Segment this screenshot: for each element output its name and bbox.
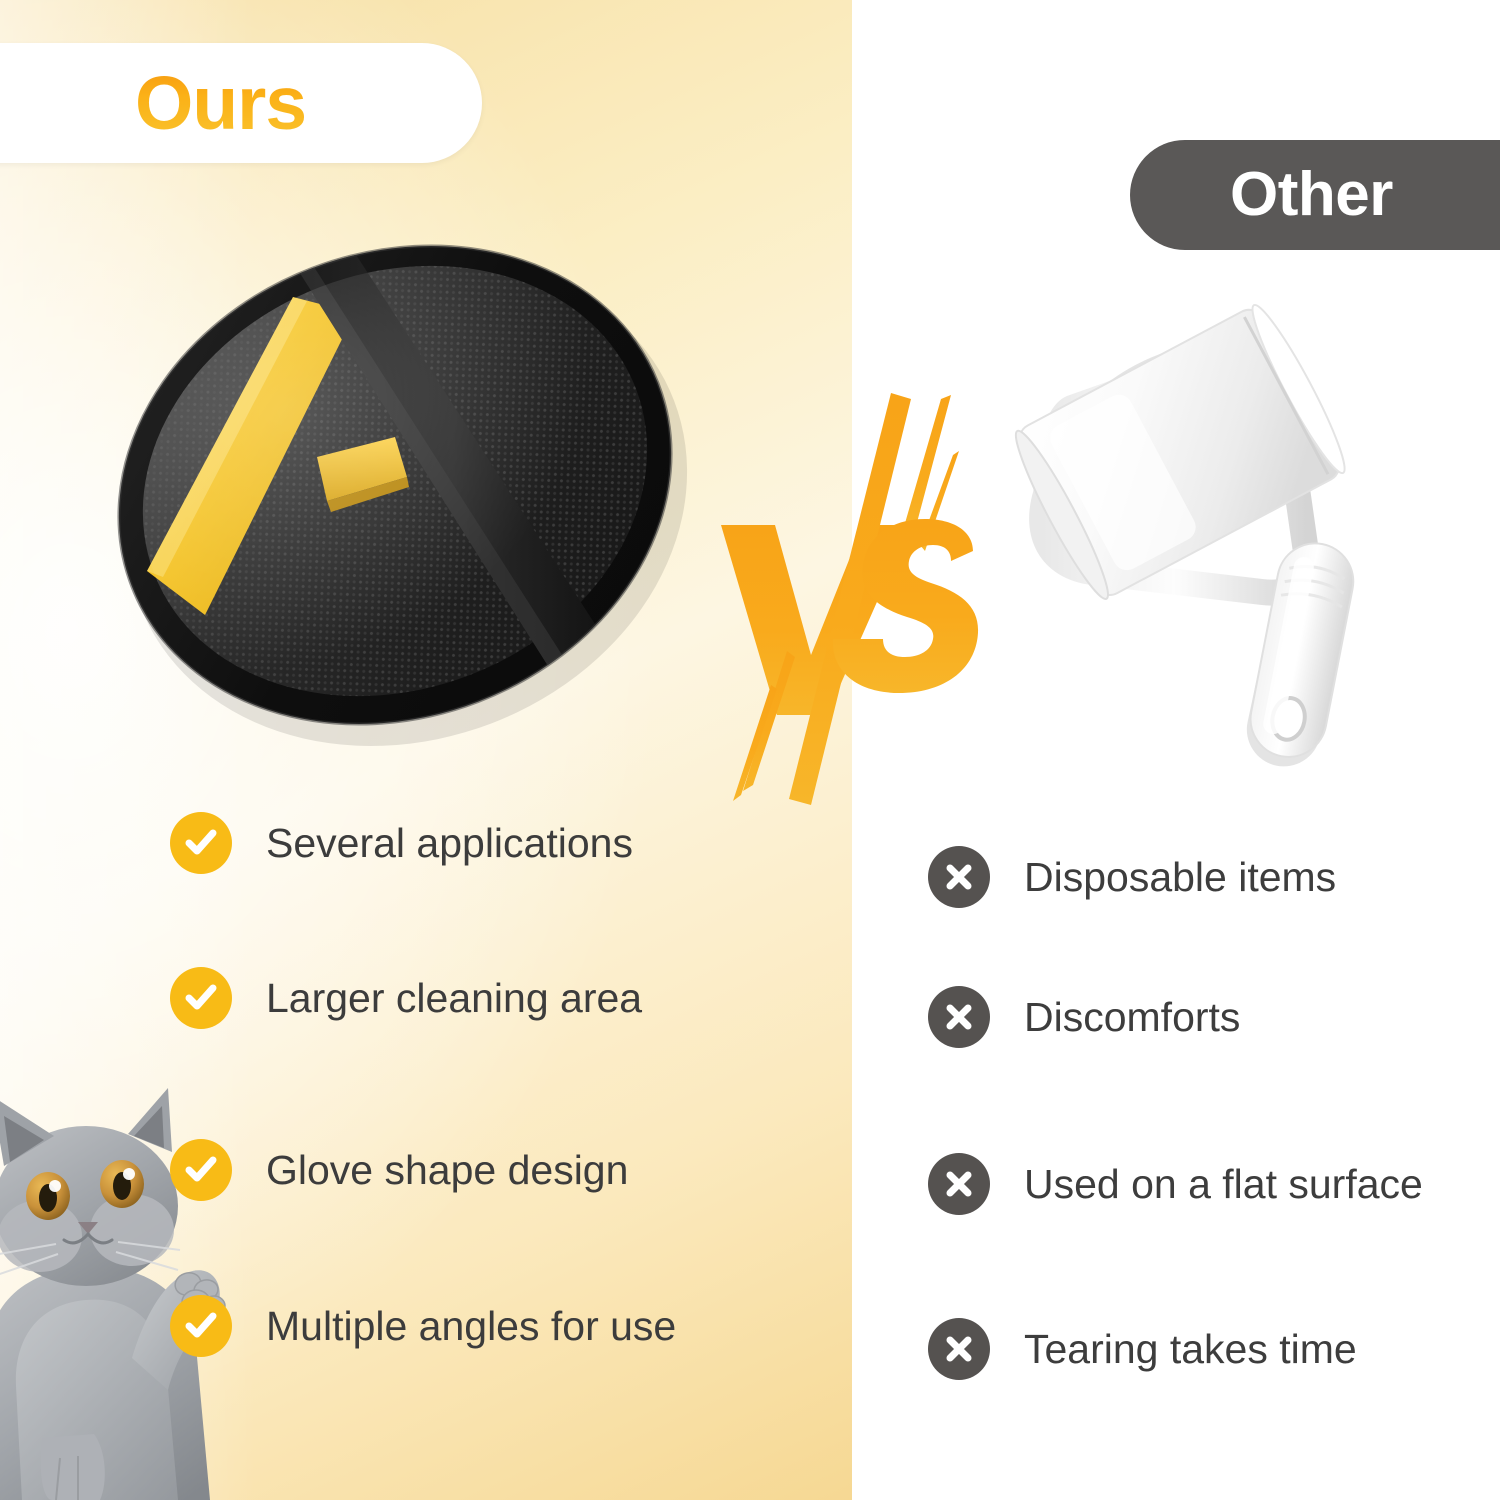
check-icon <box>170 1295 232 1357</box>
lint-roller-image <box>1000 280 1470 780</box>
list-item-label: Discomforts <box>1024 997 1240 1038</box>
list-item: Glove shape design <box>170 1139 628 1201</box>
ours-label: Ours <box>135 66 306 141</box>
pet-hair-remover-glove-image <box>55 185 735 765</box>
list-item-label: Multiple angles for use <box>266 1306 676 1347</box>
cross-icon <box>928 846 990 908</box>
list-item: Larger cleaning area <box>170 967 642 1029</box>
list-item: Tearing takes time <box>928 1318 1357 1380</box>
list-item: Several applications <box>170 812 633 874</box>
check-icon <box>170 967 232 1029</box>
list-item-label: Tearing takes time <box>1024 1329 1357 1370</box>
list-item-label: Larger cleaning area <box>266 978 642 1019</box>
ours-banner: Ours <box>0 43 482 163</box>
list-item-label: Glove shape design <box>266 1150 628 1191</box>
cross-icon <box>928 1153 990 1215</box>
list-item: Multiple angles for use <box>170 1295 676 1357</box>
other-banner: Other <box>1130 140 1500 250</box>
check-icon <box>170 1139 232 1201</box>
list-item: Discomforts <box>928 986 1240 1048</box>
list-item: Used on a flat surface <box>928 1153 1423 1215</box>
list-item-label: Several applications <box>266 823 633 864</box>
versus-icon <box>715 385 1005 815</box>
list-item-label: Disposable items <box>1024 857 1336 898</box>
cross-icon <box>928 986 990 1048</box>
list-item: Disposable items <box>928 846 1336 908</box>
other-label: Other <box>1230 164 1393 226</box>
list-item-label: Used on a flat surface <box>1024 1164 1423 1205</box>
comparison-infographic: Ours Other <box>0 0 1500 1500</box>
cross-icon <box>928 1318 990 1380</box>
check-icon <box>170 812 232 874</box>
